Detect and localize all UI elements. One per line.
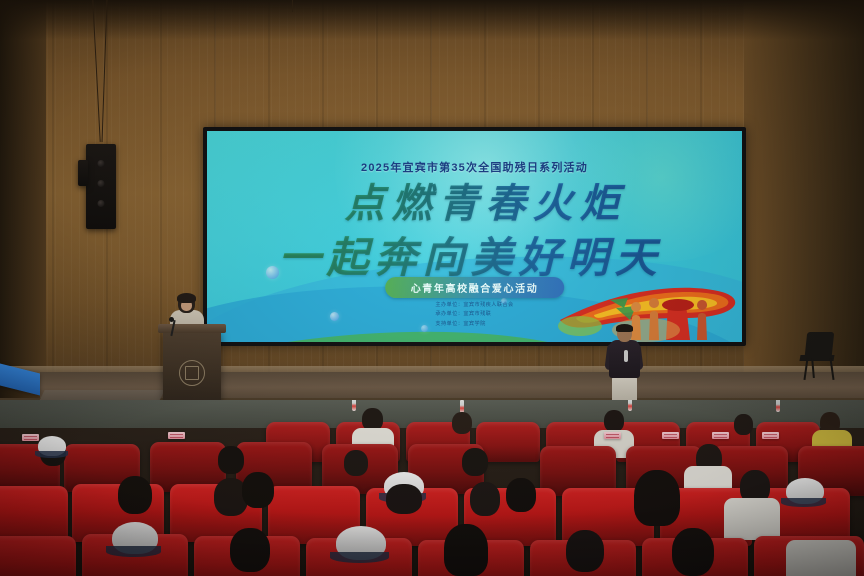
audience-head — [604, 410, 624, 432]
left-wall — [0, 0, 46, 420]
audience-head — [566, 530, 604, 572]
presenter-hair — [177, 293, 196, 303]
audience-body — [724, 498, 780, 540]
audience-body — [786, 540, 856, 576]
audience-head — [386, 484, 422, 514]
led-title-line-1: 点燃青春火炬 — [207, 171, 742, 229]
seat[interactable] — [0, 486, 68, 542]
podium-top — [158, 324, 226, 333]
speaker-wire-3 — [292, 0, 293, 12]
podium-emblem-icon — [179, 360, 205, 386]
seat-name-card — [604, 432, 621, 439]
seat-name-card — [662, 432, 679, 439]
audience-head — [452, 412, 472, 434]
led-screen-frame: 2025年宜宾市第35次全国助残日系列活动 点燃青春火炬 一起奔向美好明天 心青… — [203, 127, 746, 346]
audience-head — [118, 476, 152, 514]
ceiling-speaker-left — [86, 144, 116, 229]
audience-head — [470, 482, 500, 516]
credit-line-0: 主办单位：宜宾市残疾人联合会 — [435, 302, 513, 308]
audience-head — [218, 446, 244, 474]
seat-name-card — [168, 432, 185, 439]
podium — [163, 330, 221, 402]
audience-head — [672, 528, 714, 576]
audience-head — [634, 470, 680, 526]
ceiling-shadow — [0, 0, 864, 40]
audience-head — [242, 472, 274, 508]
white-cap — [38, 436, 66, 456]
white-cap — [336, 526, 386, 560]
host-hair — [616, 324, 633, 332]
water-bottle — [352, 400, 356, 411]
audience-head — [734, 414, 753, 435]
white-cap — [112, 522, 158, 554]
white-cap — [786, 478, 824, 504]
audience-head — [230, 528, 270, 572]
folding-chair-back — [805, 332, 835, 356]
water-bottle — [628, 400, 632, 411]
podium-mic-icon — [169, 317, 174, 322]
led-subtitle-pill: 心青年高校融合爱心活动 — [385, 277, 565, 298]
seat-name-card — [22, 434, 39, 441]
audience-head — [344, 450, 368, 476]
audience-head — [444, 524, 488, 576]
handheld-mic-icon — [624, 350, 628, 362]
led-credits: 主办单位：宜宾市残疾人联合会 承办单位：宜宾市残联 支持单位：宜宾学院 — [435, 301, 513, 330]
led-screen: 2025年宜宾市第35次全国助残日系列活动 点燃青春火炬 一起奔向美好明天 心青… — [207, 131, 742, 342]
auditorium-photo: 2025年宜宾市第35次全国助残日系列活动 点燃青春火炬 一起奔向美好明天 心青… — [0, 0, 864, 576]
audience-head — [506, 478, 536, 512]
seat-name-card — [762, 432, 779, 439]
audience-head — [462, 448, 488, 476]
credit-line-2: 支持单位：宜宾学院 — [435, 321, 485, 327]
seat[interactable] — [0, 536, 76, 576]
audience-area — [0, 400, 864, 576]
ceiling-speaker-left-2 — [78, 160, 88, 186]
seat-name-card — [712, 432, 729, 439]
credit-line-1: 承办单位：宜宾市残联 — [435, 311, 491, 317]
water-bottle — [776, 400, 780, 412]
